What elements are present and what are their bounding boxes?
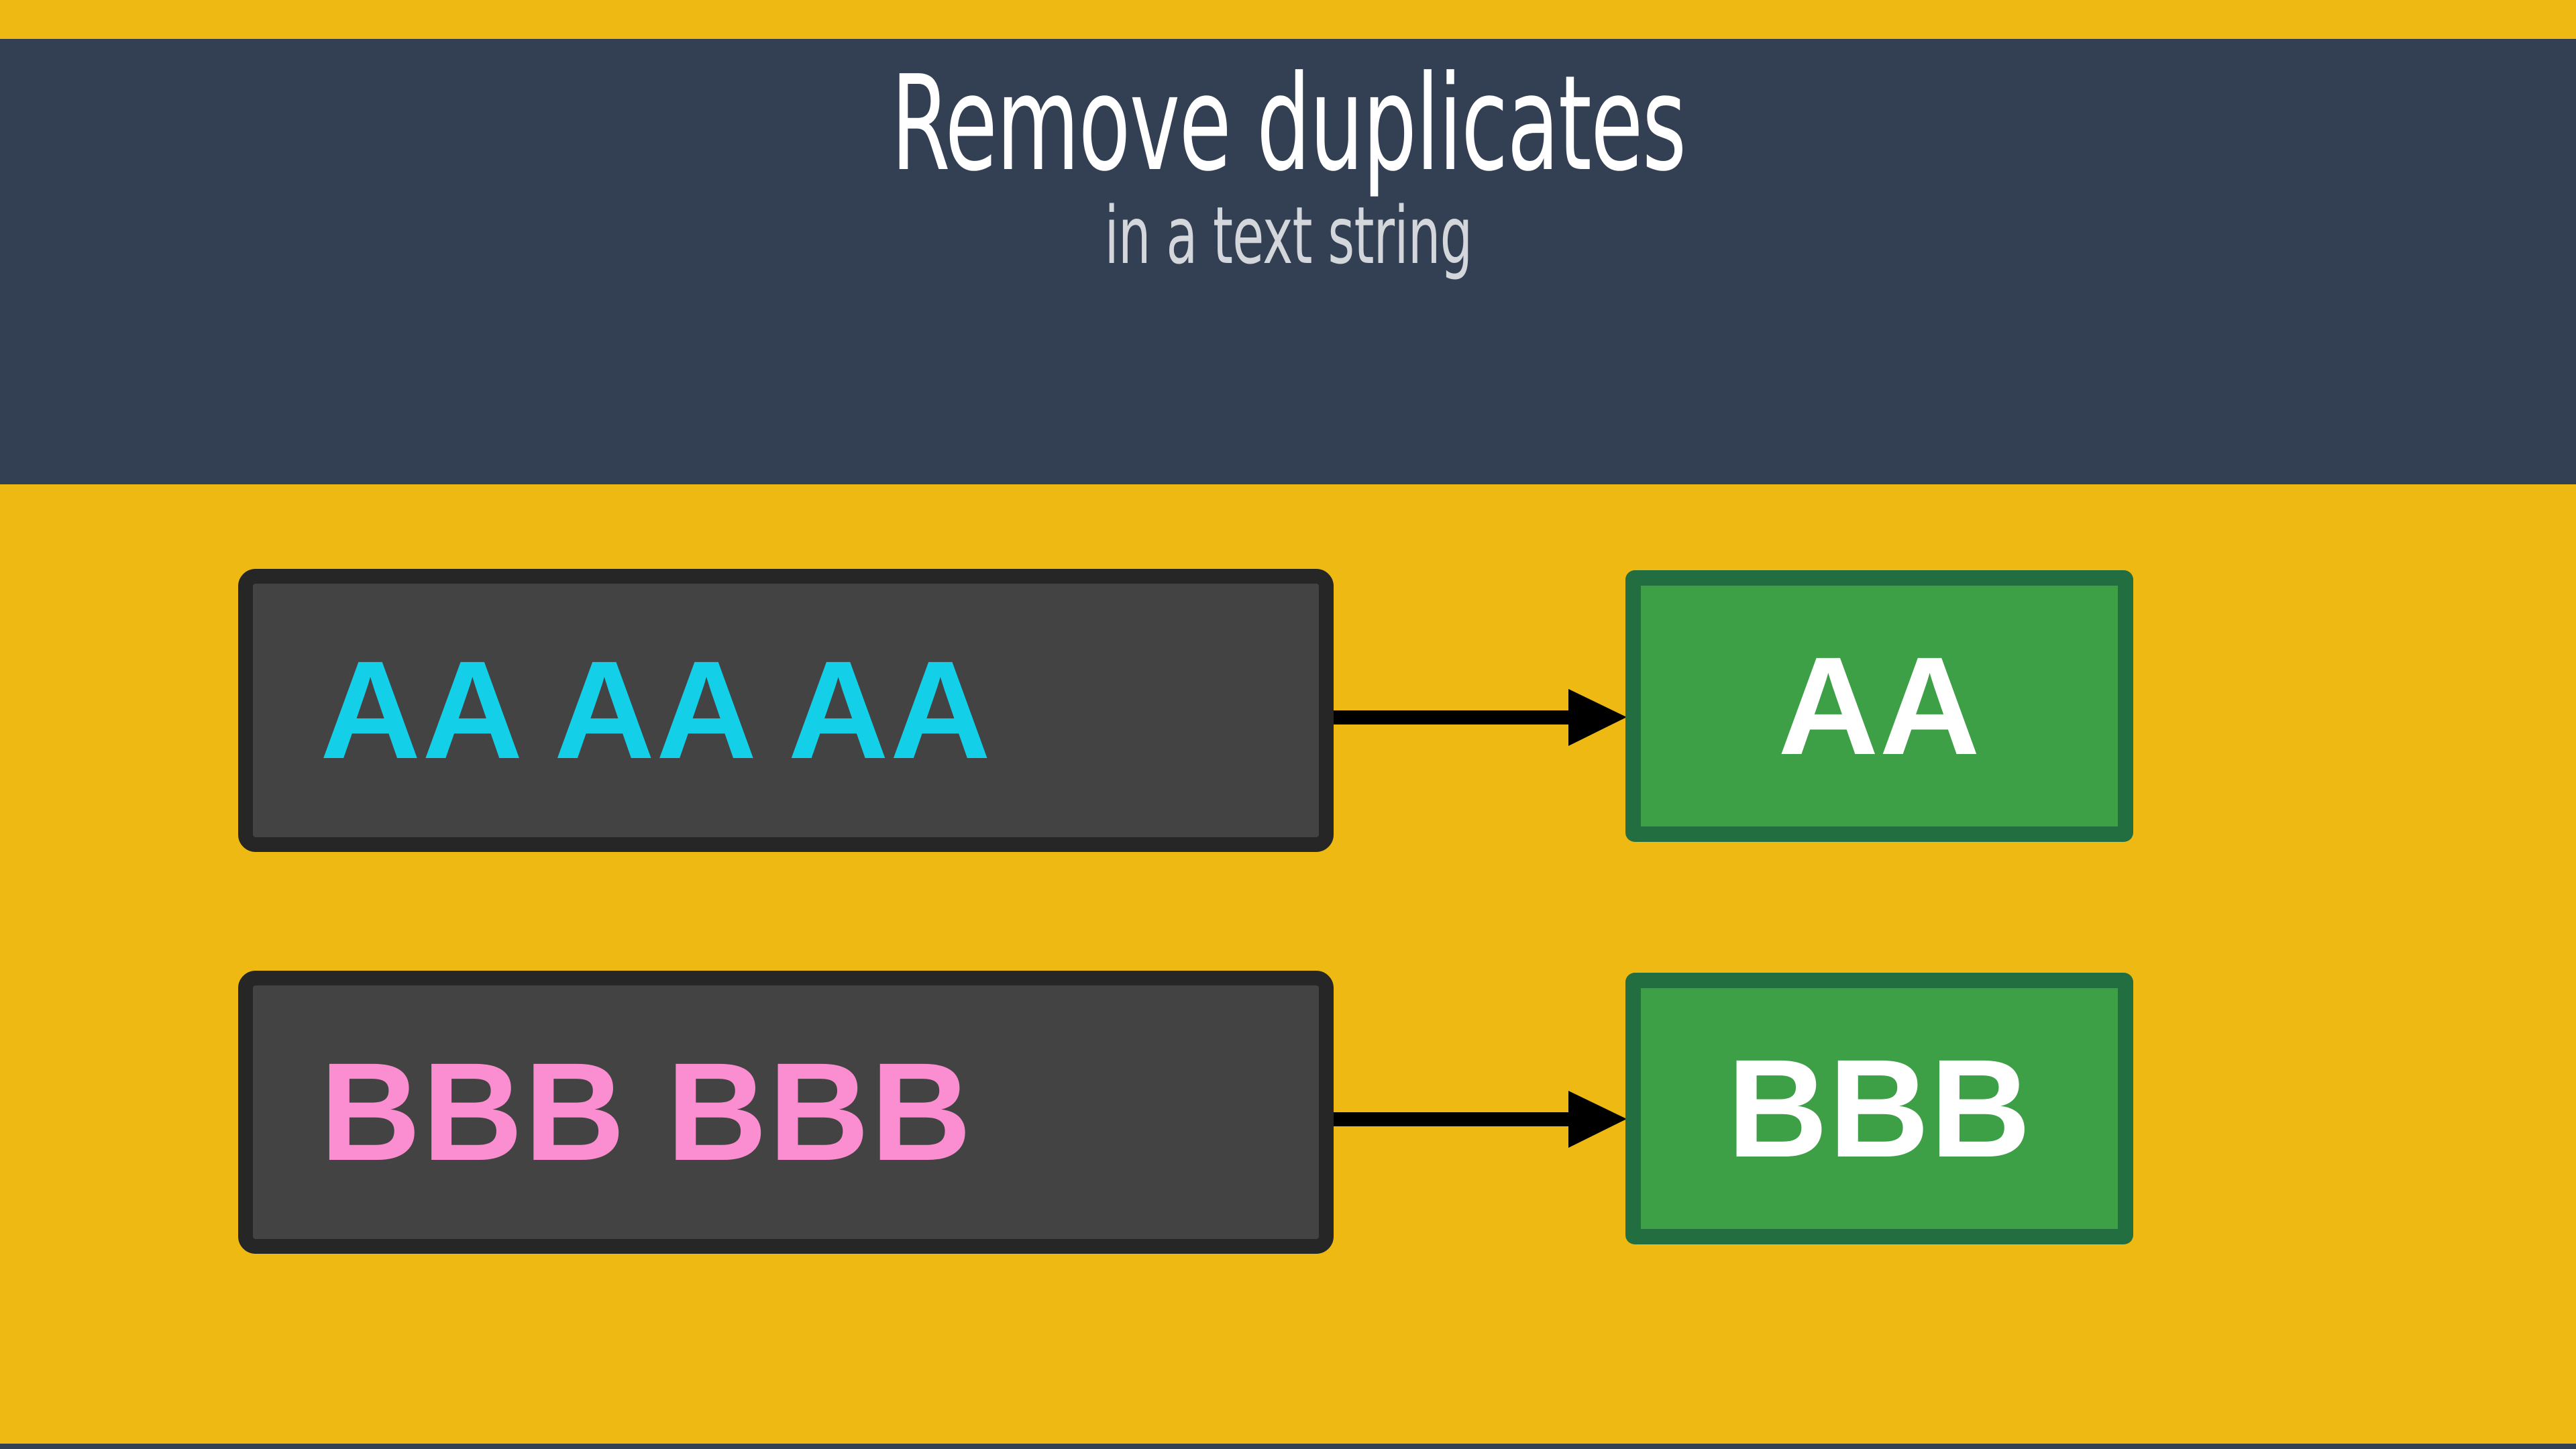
page-subtitle: in a text string	[1104, 195, 1472, 278]
output-box-row-2: BBB	[1625, 973, 2133, 1244]
page-title: Remove duplicates	[891, 58, 1685, 192]
infographic-canvas: Remove duplicates in a text string AA AA…	[0, 0, 2576, 1449]
input-box-row-2[interactable]: BBB BBB	[238, 971, 1334, 1254]
arrow-right-icon-row-2	[1334, 1085, 1629, 1152]
input-text-row-2: BBB BBB	[253, 1042, 973, 1182]
arrow-right-icon-row-1	[1334, 684, 1629, 751]
output-text-row-1: AA	[1778, 637, 1980, 776]
bottom-divider	[0, 1444, 2576, 1449]
header-band: Remove duplicates in a text string	[0, 39, 2576, 484]
output-text-row-2: BBB	[1727, 1039, 2032, 1179]
output-box-row-1: AA	[1625, 570, 2133, 842]
input-text-row-1: AA AA AA	[253, 641, 992, 780]
input-box-row-1[interactable]: AA AA AA	[238, 569, 1334, 852]
